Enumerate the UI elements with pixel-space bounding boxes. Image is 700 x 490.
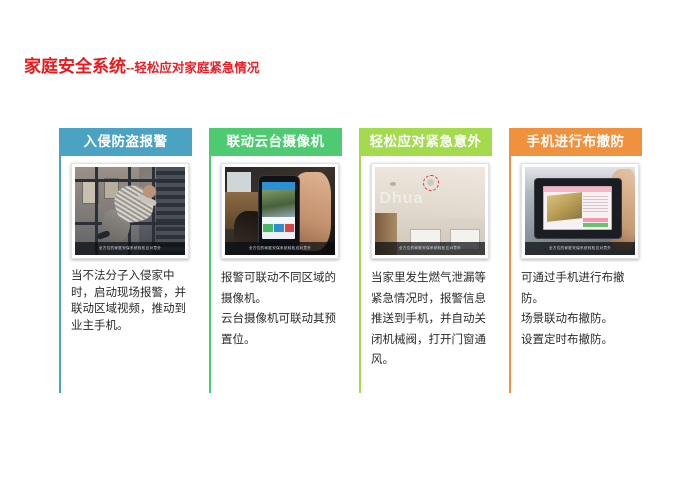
- card-paragraph: 场景联动布撤防。: [521, 309, 647, 330]
- page-title-main: 家庭安全系统: [24, 57, 126, 76]
- feature-card-mobile-arm-disarm[interactable]: 手机进行布撤防 全方位的家庭安保系统轻松应对意外: [509, 128, 659, 393]
- card-paragraph: 当家里发生燃气泄漏等紧急情况时，报警信息推送到手机，并自动关闭机械阀，打开门窗通…: [371, 268, 497, 371]
- card-text-ptz-camera: 报警可联动不同区域的摄像机。 云台摄像机可联动其预置位。: [221, 268, 347, 350]
- intruder-climbing-railing-photo: 全方位的家庭安保系统轻松应对意外: [75, 167, 185, 255]
- feature-card-row: 入侵防盗报警 全方位的家庭安保: [59, 128, 659, 393]
- card-text-intrusion-alarm: 当不法分子入侵家中时，启动现场报警，并联动区域视频，推动到业主手机。: [71, 268, 197, 334]
- photo-caption: 全方位的家庭安保系统轻松应对意外: [375, 242, 485, 255]
- card-header-emergency-response: 轻松应对紧急意外: [359, 128, 492, 156]
- card-body-mobile-arm-disarm: 全方位的家庭安保系统轻松应对意外 可通过手机进行布撤防。 场景联动布撤防。 设置…: [509, 156, 659, 393]
- page-title-sub: --轻松应对家庭紧急情况: [126, 61, 259, 75]
- photo-frame-emergency-response: Dhua 全方位的家庭安保系统轻松应对意外: [371, 163, 489, 259]
- feature-card-ptz-camera[interactable]: 联动云台摄像机 全方位的家庭安保系: [209, 128, 359, 393]
- slide-root: { "title": { "main": "家庭安全系统", "sub": "-…: [0, 0, 700, 490]
- page-title: 家庭安全系统--轻松应对家庭紧急情况: [24, 58, 259, 76]
- card-body-ptz-camera: 全方位的家庭安保系统轻松应对意外 报警可联动不同区域的摄像机。 云台摄像机可联动…: [209, 156, 359, 393]
- hand-holding-phone-camera-app-photo: 全方位的家庭安保系统轻松应对意外: [225, 167, 335, 255]
- photo-frame-ptz-camera: 全方位的家庭安保系统轻松应对意外: [221, 163, 339, 259]
- card-body-emergency-response: Dhua 全方位的家庭安保系统轻松应对意外 当家里发生燃气泄漏等紧急情况时，报警…: [359, 156, 509, 393]
- photo-caption: 全方位的家庭安保系统轻松应对意外: [75, 242, 185, 255]
- tablet-floorplan-alarm-photo: 全方位的家庭安保系统轻松应对意外: [525, 167, 635, 255]
- ceiling-gas-detector-photo: Dhua 全方位的家庭安保系统轻松应对意外: [375, 167, 485, 255]
- card-text-mobile-arm-disarm: 可通过手机进行布撤防。 场景联动布撤防。 设置定时布撤防。: [521, 268, 647, 350]
- card-paragraph: 设置定时布撤防。: [521, 330, 647, 351]
- feature-card-emergency-response[interactable]: 轻松应对紧急意外 Dhua 全方位的家庭安保系统轻松应对意外 当家里发生燃气泄漏…: [359, 128, 509, 393]
- photo-caption: 全方位的家庭安保系统轻松应对意外: [525, 242, 635, 255]
- card-paragraph: 可通过手机进行布撤防。: [521, 268, 647, 309]
- photo-frame-intrusion-alarm: 全方位的家庭安保系统轻松应对意外: [71, 163, 189, 259]
- photo-caption: 全方位的家庭安保系统轻松应对意外: [225, 242, 335, 255]
- card-header-ptz-camera: 联动云台摄像机: [209, 128, 342, 156]
- card-header-mobile-arm-disarm: 手机进行布撤防: [509, 128, 642, 156]
- card-paragraph: 报警可联动不同区域的摄像机。: [221, 268, 347, 309]
- card-paragraph: 云台摄像机可联动其预置位。: [221, 309, 347, 350]
- photo-frame-mobile-arm-disarm: 全方位的家庭安保系统轻松应对意外: [521, 163, 639, 259]
- card-body-intrusion-alarm: 全方位的家庭安保系统轻松应对意外 当不法分子入侵家中时，启动现场报警，并联动区域…: [59, 156, 209, 393]
- card-text-emergency-response: 当家里发生燃气泄漏等紧急情况时，报警信息推送到手机，并自动关闭机械阀，打开门窗通…: [371, 268, 497, 371]
- card-paragraph: 当不法分子入侵家中时，启动现场报警，并联动区域视频，推动到业主手机。: [71, 268, 197, 334]
- card-header-intrusion-alarm: 入侵防盗报警: [59, 128, 192, 156]
- feature-card-intrusion-alarm[interactable]: 入侵防盗报警 全方位的家庭安保: [59, 128, 209, 393]
